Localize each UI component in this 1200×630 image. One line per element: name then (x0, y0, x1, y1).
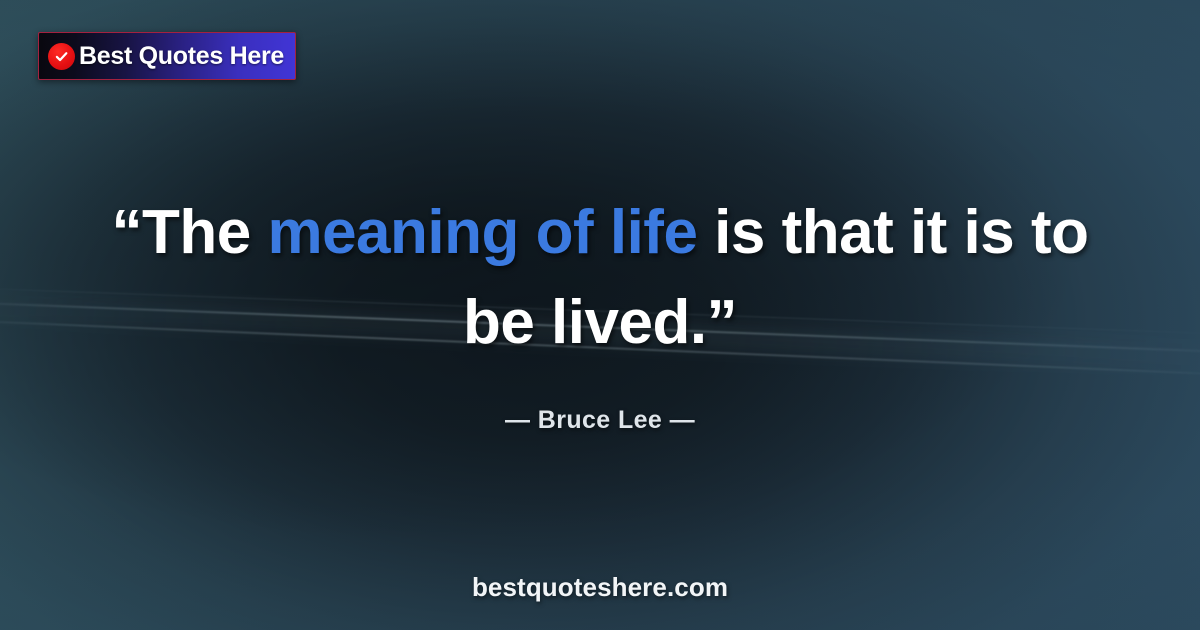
quote-segment-after: is that it is to (697, 198, 1088, 267)
logo-badge[interactable]: Best Quotes Here (38, 32, 296, 80)
check-circle-icon (48, 43, 75, 70)
quote-segment-highlight: meaning of life (267, 198, 697, 267)
quote-open-mark: “ (111, 198, 142, 267)
quote-author: — Bruce Lee — (0, 406, 1200, 435)
site-url: bestquoteshere.com (0, 572, 1200, 603)
quote-card: Best Quotes Here “The meaning of life is… (0, 0, 1200, 630)
quote-segment-line2: be lived. (463, 288, 707, 357)
quote-text: “The meaning of life is that it is to be… (70, 188, 1130, 368)
quote-block: “The meaning of life is that it is to be… (0, 188, 1200, 368)
logo-badge-label: Best Quotes Here (79, 44, 284, 69)
quote-close-mark: ” (707, 288, 738, 357)
quote-segment-before: The (142, 198, 267, 267)
